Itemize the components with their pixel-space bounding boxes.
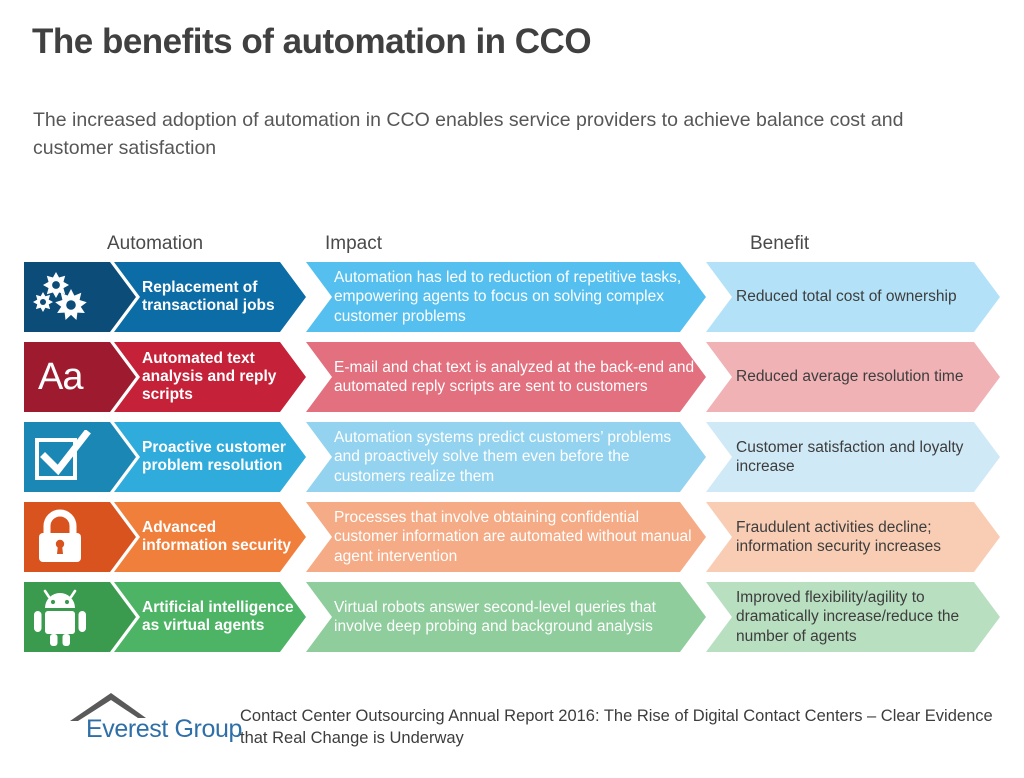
benefit-chevron[interactable]: Reduced total cost of ownership	[706, 262, 1000, 332]
checkbox-check-icon	[24, 422, 136, 492]
impact-text: Automation systems predict customers’ pr…	[334, 428, 696, 487]
benefit-text: Reduced average resolution time	[736, 367, 963, 387]
column-headers: Automation Impact Benefit	[0, 233, 1024, 261]
automation-label-chevron[interactable]: Replacement of transactional jobs	[114, 262, 306, 332]
impact-chevron[interactable]: E-mail and chat text is analyzed at the …	[306, 342, 706, 412]
android-robot-icon	[24, 582, 136, 652]
impact-chevron[interactable]: Virtual robots answer second-level queri…	[306, 582, 706, 652]
benefit-row: Artificial intelligence as virtual agent…	[0, 582, 1024, 652]
benefit-chevron[interactable]: Customer satisfaction and loyalty increa…	[706, 422, 1000, 492]
impact-text: Virtual robots answer second-level queri…	[334, 598, 696, 637]
text-aa-icon: Aa	[24, 342, 136, 412]
page-subtitle: The increased adoption of automation in …	[33, 106, 923, 162]
gears-icon	[24, 262, 136, 332]
column-header-benefit: Benefit	[750, 233, 809, 255]
benefit-text: Improved flexibility/agility to dramatic…	[736, 588, 990, 647]
automation-label-text: Proactive customer problem resolution	[142, 439, 298, 475]
everest-group-logo: Everest Group	[64, 692, 236, 748]
impact-text: Automation has led to reduction of repet…	[334, 268, 696, 327]
benefit-row: AaAutomated text analysis and reply scri…	[0, 342, 1024, 412]
benefit-chevron[interactable]: Improved flexibility/agility to dramatic…	[706, 582, 1000, 652]
column-header-automation: Automation	[107, 233, 203, 255]
benefit-row: Proactive customer problem resolutionAut…	[0, 422, 1024, 492]
automation-label-chevron[interactable]: Advanced information security	[114, 502, 306, 572]
icon-letters: Aa	[32, 358, 82, 396]
benefit-chevron[interactable]: Reduced average resolution time	[706, 342, 1000, 412]
automation-label-text: Artificial intelligence as virtual agent…	[142, 599, 298, 635]
automation-label-chevron[interactable]: Automated text analysis and reply script…	[114, 342, 306, 412]
impact-chevron[interactable]: Automation has led to reduction of repet…	[306, 262, 706, 332]
benefit-rows: Replacement of transactional jobsAutomat…	[0, 262, 1024, 662]
page-title: The benefits of automation in CCO	[32, 22, 591, 62]
benefit-row: Replacement of transactional jobsAutomat…	[0, 262, 1024, 332]
automation-label-text: Automated text analysis and reply script…	[142, 350, 298, 404]
automation-label-chevron[interactable]: Artificial intelligence as virtual agent…	[114, 582, 306, 652]
padlock-icon	[24, 502, 136, 572]
source-citation: Contact Center Outsourcing Annual Report…	[240, 705, 1000, 749]
benefit-text: Customer satisfaction and loyalty increa…	[736, 438, 990, 477]
everest-group-wordmark: Everest Group	[86, 715, 242, 744]
impact-text: E-mail and chat text is analyzed at the …	[334, 358, 696, 397]
benefit-chevron[interactable]: Fraudulent activities decline; informati…	[706, 502, 1000, 572]
impact-text: Processes that involve obtaining confide…	[334, 508, 696, 567]
benefit-text: Reduced total cost of ownership	[736, 287, 957, 307]
benefit-row: Advanced information securityProcesses t…	[0, 502, 1024, 572]
automation-label-text: Advanced information security	[142, 519, 298, 555]
benefit-text: Fraudulent activities decline; informati…	[736, 518, 990, 557]
automation-label-text: Replacement of transactional jobs	[142, 279, 298, 315]
impact-chevron[interactable]: Processes that involve obtaining confide…	[306, 502, 706, 572]
footer: Everest Group Contact Center Outsourcing…	[0, 690, 1024, 770]
automation-label-chevron[interactable]: Proactive customer problem resolution	[114, 422, 306, 492]
impact-chevron[interactable]: Automation systems predict customers’ pr…	[306, 422, 706, 492]
column-header-impact: Impact	[325, 233, 382, 255]
